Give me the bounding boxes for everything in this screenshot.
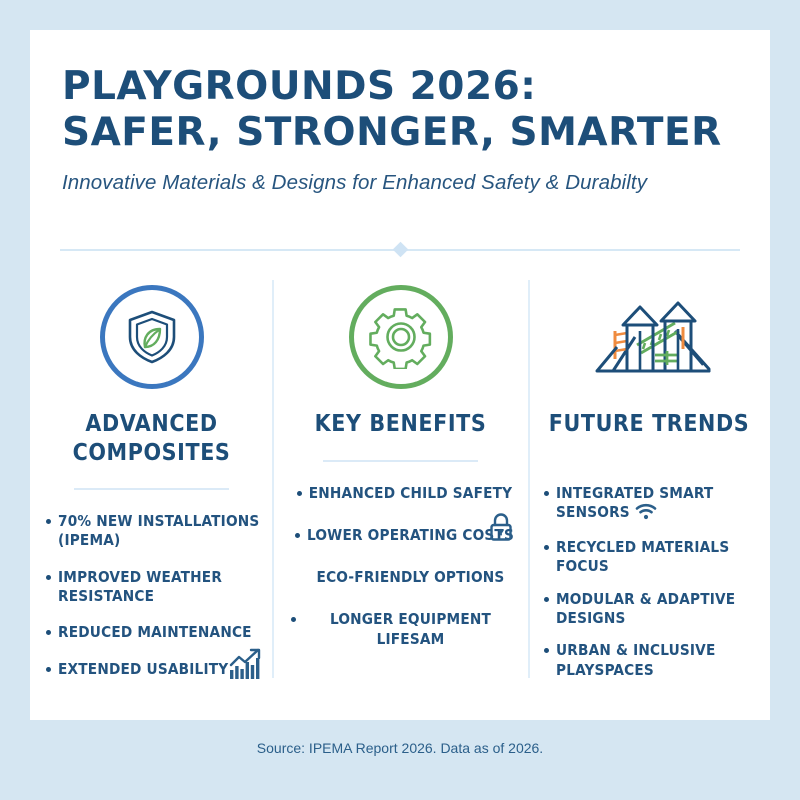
- list-item-label: LONGER EQUIPMENT LIFESAM: [303, 610, 518, 649]
- future-trends-icon-wrap: [538, 278, 760, 396]
- list-item-label: REDUCED MAINTENANCE: [58, 623, 263, 642]
- column-key-benefits: KEY BENEFITS ENHANCED CHILD SAFETY LOWER…: [273, 278, 528, 688]
- bullet-dot-icon: [46, 575, 51, 580]
- column-heading-key-benefits: KEY BENEFITS: [283, 410, 518, 439]
- list-item: INTEGRATED SMART SENSORS: [544, 484, 760, 526]
- list-item: MODULAR & ADAPTIVE DESIGNS: [544, 590, 760, 629]
- list-item: LOWER OPERATING COSTS: [291, 526, 518, 545]
- infographic-poster: PLAYGROUNDS 2026: SAFER, STRONGER, SMART…: [0, 0, 800, 800]
- list-item-label: 70% NEW INSTALLATIONS (IPEMA): [58, 512, 263, 551]
- growth-chart-icon: [229, 648, 263, 685]
- list-item-label: RECYCLED MATERIALS FOCUS: [556, 538, 760, 577]
- bullet-dot-icon: [46, 667, 51, 672]
- list-item: 70% NEW INSTALLATIONS (IPEMA): [46, 512, 263, 551]
- shield-leaf-icon: [100, 285, 204, 389]
- list-item-label: ENHANCED CHILD SAFETY: [309, 484, 513, 503]
- bullet-list-advanced-composites: 70% NEW INSTALLATIONS (IPEMA) IMPROVED W…: [40, 512, 263, 679]
- advanced-composites-icon-wrap: [40, 278, 263, 396]
- bullet-dot-icon: [544, 648, 549, 653]
- list-item: ENHANCED CHILD SAFETY: [291, 484, 518, 503]
- heading-line-1: KEY BENEFITS: [283, 410, 518, 439]
- column-future-trends: FUTURE TRENDS INTEGRATED SMART SENSORS R…: [528, 278, 770, 688]
- list-item-label: MODULAR & ADAPTIVE DESIGNS: [556, 590, 760, 629]
- page-title-line-1: PLAYGROUNDS 2026:: [62, 64, 738, 110]
- column-heading-advanced-composites: ADVANCED COMPOSITES: [40, 410, 263, 467]
- heading-line-1: ADVANCED: [40, 410, 263, 439]
- lock-icon: [488, 512, 514, 547]
- bullet-dot-icon: [305, 575, 310, 580]
- list-item-label: ECO-FRIENDLY OPTIONS: [317, 568, 505, 587]
- list-item-label: IMPROVED WEATHER RESISTANCE: [58, 568, 263, 607]
- gear-icon: [349, 285, 453, 389]
- bullet-dot-icon: [46, 519, 51, 524]
- header: PLAYGROUNDS 2026: SAFER, STRONGER, SMART…: [62, 64, 738, 195]
- list-item: IMPROVED WEATHER RESISTANCE: [46, 568, 263, 607]
- list-item-label: URBAN & INCLUSIVE PLAYSPACES: [556, 641, 760, 680]
- playground-icon: [583, 287, 715, 388]
- column-heading-future-trends: FUTURE TRENDS: [538, 410, 760, 439]
- bullet-dot-icon: [544, 491, 549, 496]
- column-rule-1: [74, 488, 229, 490]
- list-item: LONGER EQUIPMENT LIFESAM: [291, 610, 518, 649]
- bullet-dot-icon: [297, 491, 302, 496]
- bullet-dot-icon: [46, 630, 51, 635]
- bullet-dot-icon: [295, 533, 300, 538]
- page-subtitle: Innovative Materials & Designs for Enhan…: [62, 171, 738, 195]
- list-item: RECYCLED MATERIALS FOCUS: [544, 538, 760, 577]
- divider-diamond-icon: [392, 242, 408, 258]
- bullet-dot-icon: [544, 597, 549, 602]
- list-item: REDUCED MAINTENANCE: [46, 623, 263, 642]
- column-advanced-composites: ADVANCED COMPOSITES 70% NEW INSTALLATION…: [30, 278, 273, 688]
- bullet-dot-icon: [291, 617, 296, 622]
- bullet-dot-icon: [544, 545, 549, 550]
- heading-line-1: FUTURE TRENDS: [538, 410, 760, 439]
- list-item: ECO-FRIENDLY OPTIONS: [291, 568, 518, 587]
- list-item-label: LOWER OPERATING COSTS: [307, 526, 514, 545]
- header-divider: [60, 242, 740, 258]
- heading-line-2: COMPOSITES: [40, 439, 263, 468]
- bullet-list-key-benefits: ENHANCED CHILD SAFETY LOWER OPERATING CO…: [283, 484, 518, 649]
- footer-source: Source: IPEMA Report 2026. Data as of 20…: [0, 740, 800, 756]
- content-card: PLAYGROUNDS 2026: SAFER, STRONGER, SMART…: [30, 30, 770, 720]
- column-rule-2: [323, 460, 478, 462]
- columns-container: ADVANCED COMPOSITES 70% NEW INSTALLATION…: [30, 278, 770, 688]
- list-item: URBAN & INCLUSIVE PLAYSPACES: [544, 641, 760, 680]
- wifi-icon: [635, 503, 657, 525]
- page-title-line-2: SAFER, STRONGER, SMARTER: [62, 110, 738, 156]
- bullet-list-future-trends: INTEGRATED SMART SENSORS RECYCLED MATERI…: [538, 484, 760, 680]
- key-benefits-icon-wrap: [283, 278, 518, 396]
